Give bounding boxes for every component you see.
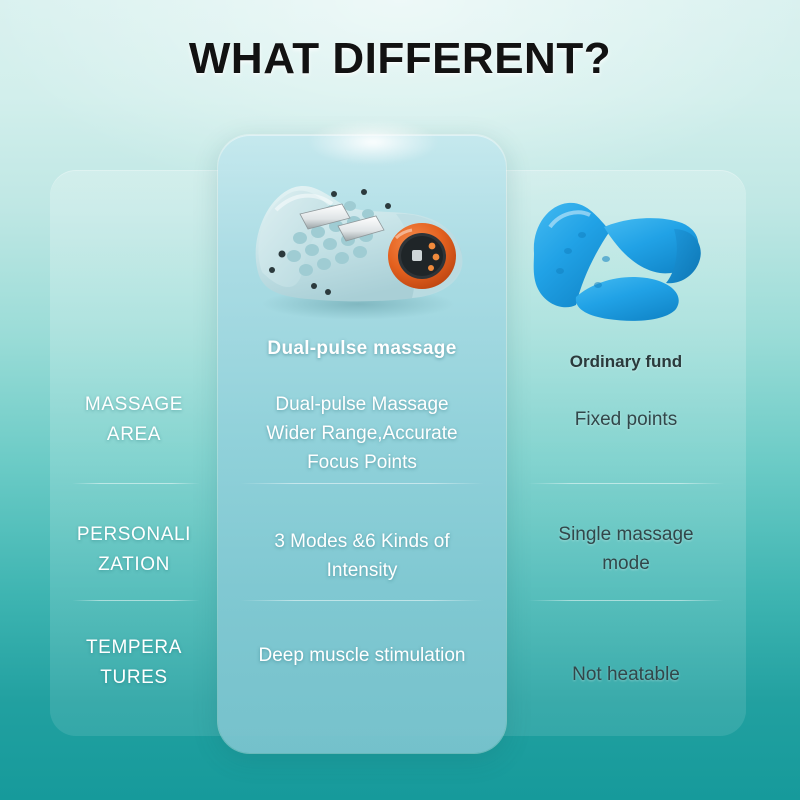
featured-product-image [236,152,476,322]
row-ordinary-temperatures: Not heatable [506,660,746,689]
divider-center-1 [240,483,484,484]
featured-line2: Wider Range,Accurate [218,419,506,448]
ordinary-line1: Fixed points [506,405,746,434]
featured-line2: Intensity [218,556,506,585]
ordinary-line1: Single massage [506,520,746,549]
massager-illustration [236,152,476,322]
ordinary-product-image [524,193,714,328]
row-featured-personalization: 3 Modes &6 Kinds of Intensity [218,527,506,585]
row-label-personalization: PERSONALI ZATION [50,520,218,580]
divider-right-1 [528,483,724,484]
ordinary-line2: mode [506,549,746,578]
row-label-line2: TURES [50,663,218,693]
featured-line1: Dual-pulse Massage [218,390,506,419]
divider-left-1 [72,483,200,484]
divider-left-2 [72,600,200,601]
row-label-line1: TEMPERA [50,633,218,663]
row-ordinary-personalization: Single massage mode [506,520,746,578]
infographic-canvas: WHAT DIFFERENT? [0,0,800,800]
featured-line1: 3 Modes &6 Kinds of [218,527,506,556]
ordinary-column-header: Ordinary fund [506,352,746,372]
row-ordinary-massage-area: Fixed points [506,405,746,434]
row-featured-temperatures: Deep muscle stimulation [218,641,506,670]
featured-line3: Focus Points [218,448,506,477]
row-label-temperatures: TEMPERA TURES [50,633,218,693]
row-label-line1: MASSAGE [50,390,218,420]
ordinary-line1: Not heatable [506,660,746,689]
page-title: WHAT DIFFERENT? [0,34,800,84]
row-label-line2: AREA [50,420,218,450]
row-label-line1: PERSONALI [50,520,218,550]
row-label-massage-area: MASSAGE AREA [50,390,218,450]
featured-line1: Deep muscle stimulation [218,641,506,670]
row-label-line2: ZATION [50,550,218,580]
row-featured-massage-area: Dual-pulse Massage Wider Range,Accurate … [218,390,506,477]
featured-column-header: Dual-pulse massage [218,338,506,360]
stretcher-base [576,277,679,321]
divider-center-2 [240,600,484,601]
control-dial[interactable] [388,223,456,289]
stretcher-illustration [524,193,714,328]
divider-right-2 [528,600,724,601]
